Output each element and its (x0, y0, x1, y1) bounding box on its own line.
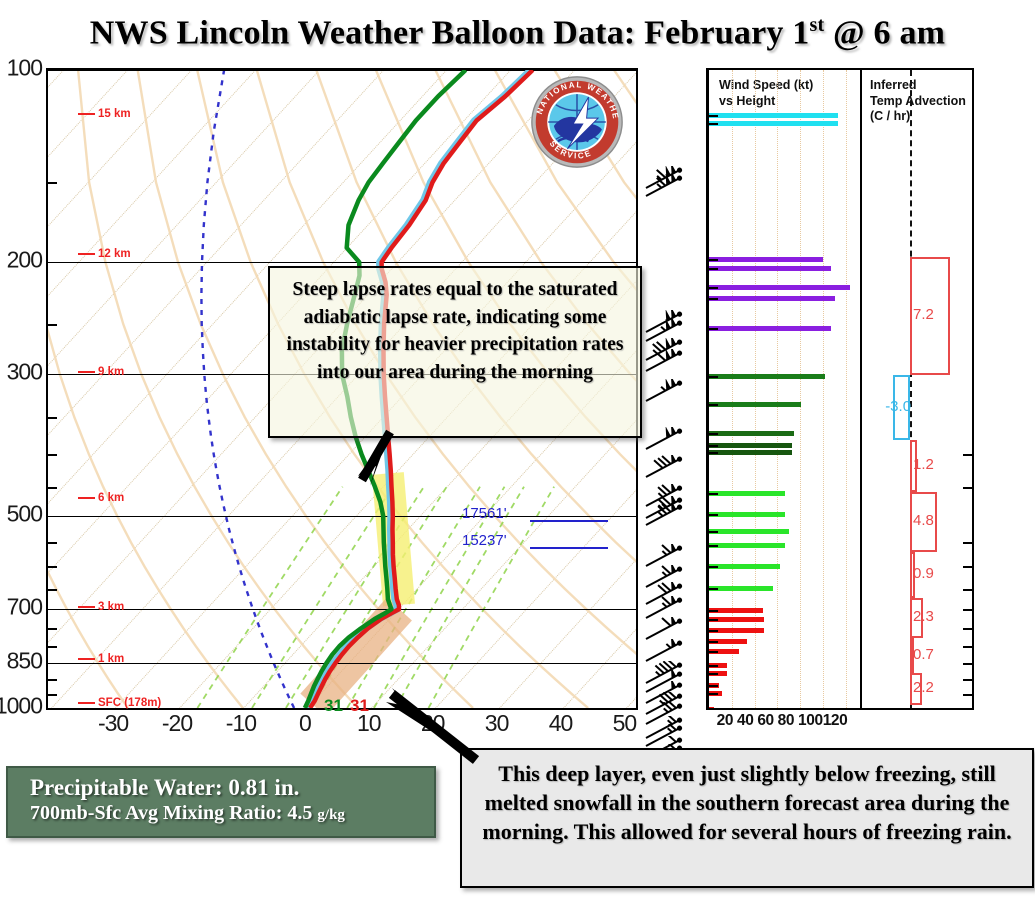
wind-panel-tick (709, 641, 718, 643)
nws-logo: NATIONAL WEATHER SERVICE (529, 74, 625, 170)
page-title-ordinal: st (809, 14, 824, 36)
wind-speed-bar (709, 443, 792, 448)
wind-panel-tick (709, 693, 718, 695)
wind-panel-tick (709, 123, 718, 125)
wind-panel-tick (709, 493, 718, 495)
temperature-label: 50 (613, 710, 637, 737)
height-label: 1 km (98, 653, 124, 665)
height-annotation-line (530, 547, 608, 549)
page-title-tail: @ 6 am (824, 14, 945, 51)
wind-speed-bar (709, 296, 835, 301)
wind-speed-bar (709, 326, 831, 331)
wind-panel-tick (709, 665, 718, 667)
pressure-label: 300 (7, 359, 42, 386)
advection-panel-tick (963, 663, 972, 665)
wind-barb (640, 427, 694, 457)
advection-value-label: 2.2 (913, 679, 934, 696)
height-annotation-line (530, 520, 608, 522)
wind-panel-tick (709, 445, 718, 447)
wind-speed-bar (709, 431, 794, 436)
wind-speed-bar (709, 257, 823, 262)
pressure-label: 850 (7, 647, 42, 674)
wind-speed-bar (709, 564, 780, 569)
wind-panel-tick (709, 452, 718, 454)
advection-value-label: 1.2 (913, 456, 934, 473)
slide-root: NWS Lincoln Weather Balloon Data: Februa… (0, 0, 1035, 905)
wind-panel-tick (709, 376, 718, 378)
wind-panel-tick (709, 259, 718, 261)
height-tick (78, 253, 95, 255)
wind-panel-tick (709, 709, 718, 710)
wind-speed-bar (709, 450, 792, 455)
temp-advection-panel[interactable]: Inferred Temp Advection (C / hr) 7.2-3.0… (860, 68, 974, 710)
temperature-label: 40 (549, 710, 573, 737)
pressure-label: 500 (7, 500, 42, 527)
wind-speed-bar (709, 402, 801, 407)
height-label: 6 km (98, 492, 124, 504)
wind-panel-tick (709, 619, 718, 621)
height-label: 12 km (98, 248, 131, 260)
height-tick (78, 658, 95, 660)
wind-panel-tick (709, 298, 718, 300)
callout-lapse-rates: Steep lapse rates equal to the saturated… (268, 266, 642, 438)
wind-barb (640, 455, 694, 485)
height-label: SFC (178m) (98, 697, 161, 709)
height-label: 9 km (98, 366, 124, 378)
temperature-label: -30 (98, 710, 128, 737)
pw-line-2-main: 700mb-Sfc Avg Mixing Ratio: 4.5 (30, 802, 317, 824)
wind-speed-bar (709, 512, 785, 517)
advection-panel-tick (963, 609, 972, 611)
advection-panel-tick (963, 589, 972, 591)
wind-panel-tick (709, 287, 718, 289)
height-tick (78, 371, 95, 373)
pressure-label: 100 (7, 55, 42, 82)
wind-gridline (823, 70, 824, 708)
wind-speed-panel[interactable]: Wind Speed (kt) vs Height (706, 68, 863, 710)
page-title: NWS Lincoln Weather Balloon Data: Februa… (0, 14, 1035, 52)
wind-panel-tick (709, 630, 718, 632)
wind-panel-tick (709, 610, 718, 612)
pressure-label: 1000 (0, 693, 42, 720)
advection-panel-tick (963, 487, 972, 489)
height-annotation: 15237' (462, 532, 507, 549)
temperature-label: 30 (485, 710, 509, 737)
wind-speed-bar (709, 707, 714, 710)
callout-precipitable-water: Precipitable Water: 0.81 in. 700mb-Sfc A… (6, 766, 436, 838)
height-tick (78, 497, 95, 499)
height-tick (78, 702, 95, 704)
wind-panel-tick (709, 531, 718, 533)
wind-speed-bar (709, 121, 838, 126)
height-label: 15 km (98, 108, 131, 120)
advection-panel-title: Inferred Temp Advection (C / hr) (870, 78, 966, 125)
advection-panel-tick (963, 542, 972, 544)
wind-panel-tick (709, 685, 718, 687)
height-tick (78, 113, 95, 115)
height-label: 3 km (98, 601, 124, 613)
wind-barb-column (636, 68, 704, 706)
callout-melting-layer: This deep layer, even just slightly belo… (460, 748, 1034, 888)
pw-line-2-unit: g/kg (317, 807, 345, 823)
page-title-main: NWS Lincoln Weather Balloon Data: Februa… (90, 14, 810, 51)
wind-barb (640, 503, 694, 533)
advection-panel-tick (963, 454, 972, 456)
advection-panel-tick (963, 679, 972, 681)
surface-temperature-label: 31 (350, 696, 369, 716)
wind-speed-bar (709, 543, 785, 548)
advection-panel-tick (963, 646, 972, 648)
wind-speed-bar (709, 529, 789, 534)
wind-gridline (777, 70, 778, 708)
wind-panel-tick (709, 404, 718, 406)
arrow-lapse (340, 428, 400, 498)
wind-barb (640, 349, 694, 379)
pressure-label: 700 (7, 594, 42, 621)
wind-gridline (846, 70, 847, 708)
advection-value-label: 2.3 (913, 608, 934, 625)
wind-speed-axis: 20 40 60 80 100120 (706, 712, 858, 730)
height-annotation: 17561' (462, 505, 507, 522)
advection-panel-tick (963, 694, 972, 696)
arrow-melt (372, 676, 482, 766)
wind-panel-tick (709, 673, 718, 675)
advection-value-label: 0.9 (913, 565, 934, 582)
wind-gridline (800, 70, 801, 708)
advection-panel-tick (963, 566, 972, 568)
wind-speed-bar (709, 266, 831, 271)
advection-panel-tick (963, 628, 972, 630)
advection-value-label: 7.2 (913, 306, 934, 323)
wind-barb (640, 379, 694, 409)
wind-panel-tick (709, 545, 718, 547)
wind-panel-tick (709, 115, 718, 117)
surface-dewpoint-label: 31 (324, 696, 343, 716)
wind-panel-tick (709, 514, 718, 516)
wind-speed-bar (709, 491, 785, 496)
wind-speed-bar (709, 586, 773, 591)
wind-panel-tick (709, 651, 718, 653)
wind-barb (640, 174, 694, 204)
wind-panel-tick (709, 328, 718, 330)
wind-speed-bar (709, 285, 850, 290)
wind-panel-tick (709, 588, 718, 590)
height-tick (78, 606, 95, 608)
temperature-label: 0 (299, 710, 311, 737)
advection-value-label: -3.0 (885, 398, 911, 415)
pw-line-1: Precipitable Water: 0.81 in. (30, 774, 434, 801)
pw-line-2: 700mb-Sfc Avg Mixing Ratio: 4.5 g/kg (30, 801, 434, 826)
wind-speed-bar (709, 374, 825, 379)
pressure-label: 200 (7, 247, 42, 274)
temperature-label: -20 (162, 710, 192, 737)
wind-speed-bar (709, 113, 838, 118)
wind-panel-tick (709, 268, 718, 270)
wind-panel-tick (709, 566, 718, 568)
advection-value-label: 4.8 (913, 512, 934, 529)
temperature-label: -10 (226, 710, 256, 737)
advection-value-label: 0.7 (913, 646, 934, 663)
wind-panel-tick (709, 433, 718, 435)
